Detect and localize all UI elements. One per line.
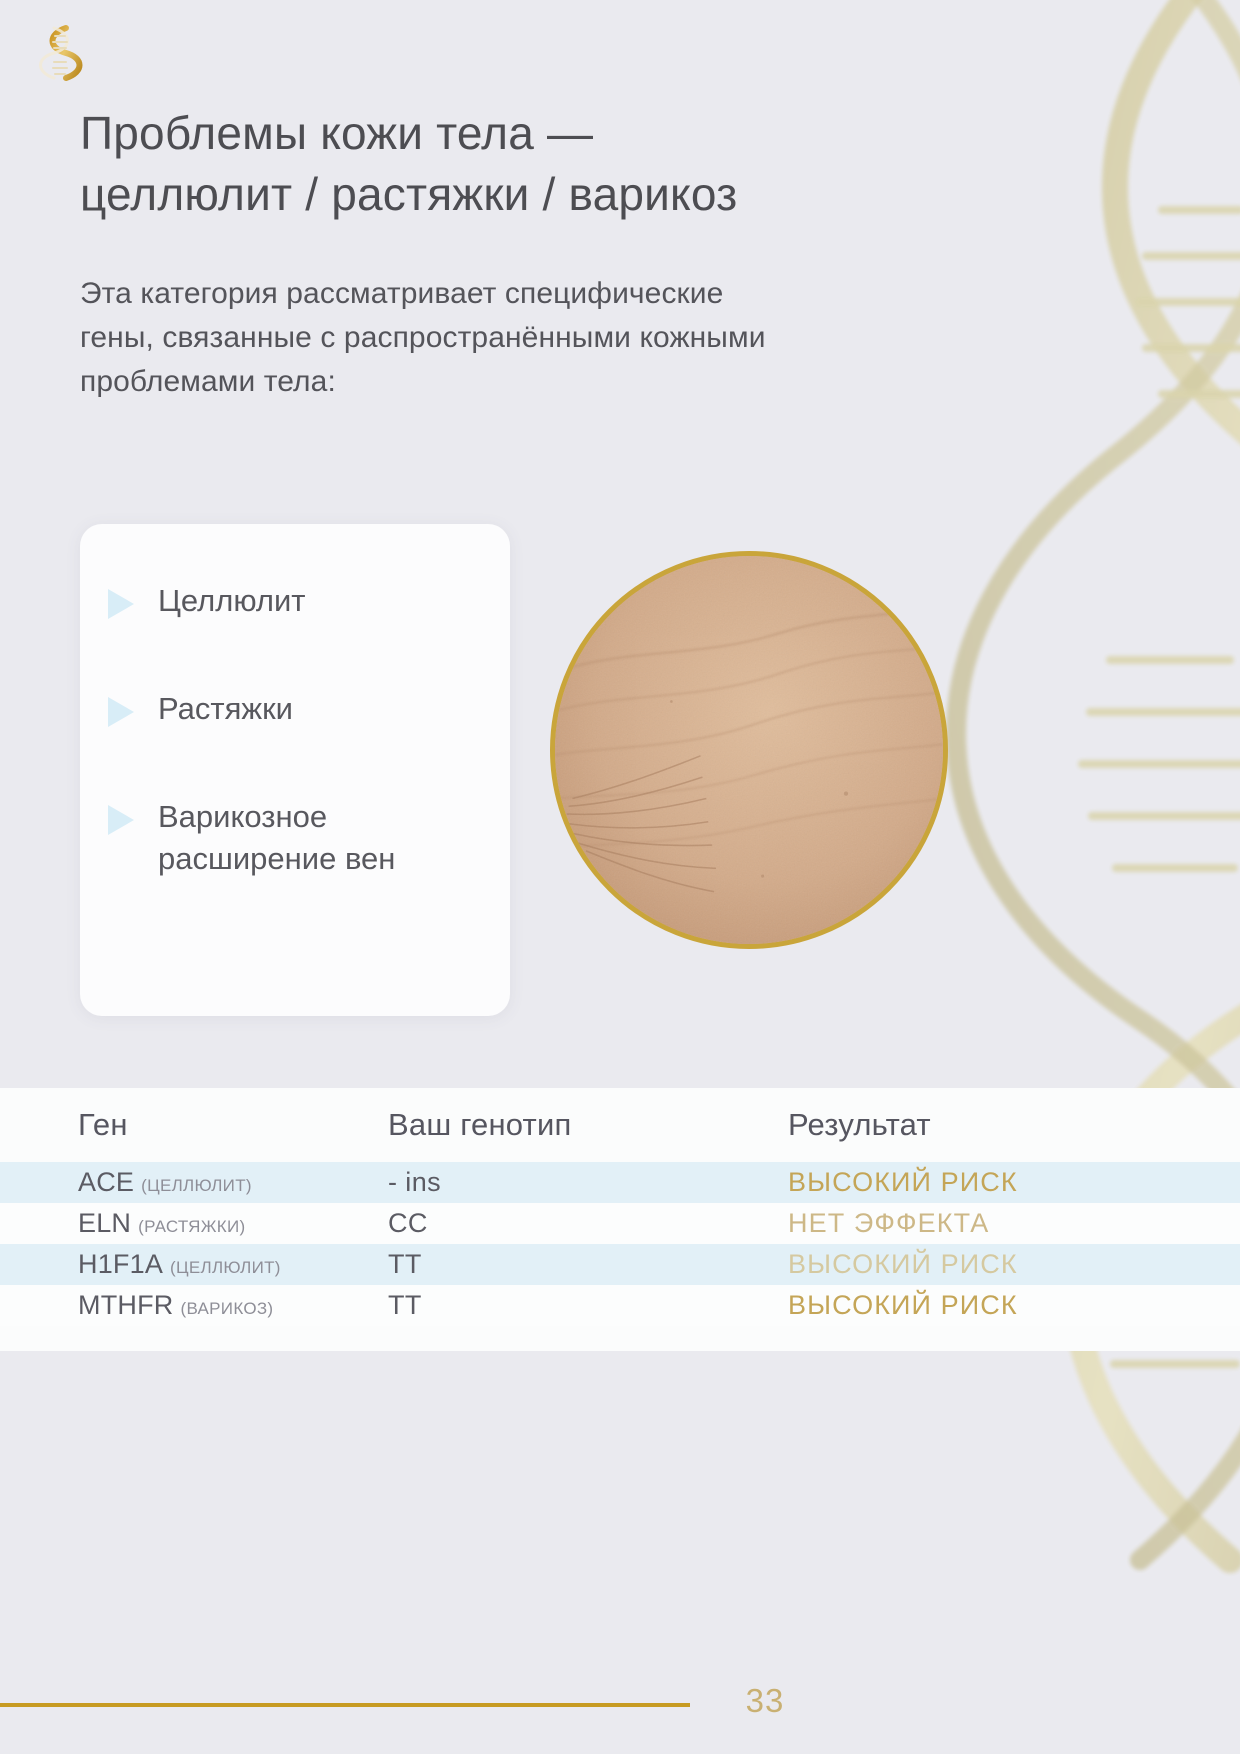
gene-note: (ЦЕЛЛЮЛИТ) <box>141 1176 252 1195</box>
table-header-row: Ген Ваш генотип Результат <box>0 1088 1240 1162</box>
page-title-line-1: Проблемы кожи тела — <box>80 107 593 159</box>
results-table-band: Ген Ваш генотип Результат ACE(ЦЕЛЛЮЛИТ) … <box>0 1088 1240 1351</box>
results-table: Ген Ваш генотип Результат ACE(ЦЕЛЛЮЛИТ) … <box>0 1088 1240 1326</box>
table-row: ACE(ЦЕЛЛЮЛИТ) - ins ВЫСОКИЙ РИСК <box>0 1162 1240 1203</box>
cell-gene: H1F1A(ЦЕЛЛЮЛИТ) <box>78 1249 388 1280</box>
cell-result: ВЫСОКИЙ РИСК <box>788 1167 1162 1198</box>
cell-result: ВЫСОКИЙ РИСК <box>788 1249 1162 1280</box>
page-number: 33 <box>735 1682 795 1720</box>
cell-genotype: - ins <box>388 1167 788 1198</box>
conditions-list: Целлюлит Растяжки Варикозное расширение … <box>108 580 488 881</box>
intro-paragraph: Эта категория рассматривает специфически… <box>80 272 800 404</box>
list-item-label: Варикозное расширение вен <box>158 796 488 880</box>
page-title-line-2: целлюлит / растяжки / варикоз <box>80 168 737 220</box>
list-item-label: Растяжки <box>158 688 293 730</box>
triangle-bullet-icon <box>108 697 134 727</box>
cell-result: НЕТ ЭФФЕКТА <box>788 1208 1162 1239</box>
gene-name: H1F1A <box>78 1249 163 1279</box>
gene-name: ELN <box>78 1208 131 1238</box>
gene-note: (ВАРИКОЗ) <box>180 1299 273 1318</box>
table-row: H1F1A(ЦЕЛЛЮЛИТ) TT ВЫСОКИЙ РИСК <box>0 1244 1240 1285</box>
list-item: Растяжки <box>108 688 488 730</box>
cell-genotype: TT <box>388 1290 788 1321</box>
footer-divider <box>0 1703 690 1707</box>
column-header-result: Результат <box>788 1107 1162 1143</box>
list-item: Целлюлит <box>108 580 488 622</box>
list-item-label: Целлюлит <box>158 580 306 622</box>
cell-gene: ELN(РАСТЯЖКИ) <box>78 1208 388 1239</box>
list-item: Варикозное расширение вен <box>108 796 488 880</box>
page-title: Проблемы кожи тела — целлюлит / растяжки… <box>80 103 940 224</box>
cell-gene: MTHFR(ВАРИКОЗ) <box>78 1290 388 1321</box>
conditions-card: Целлюлит Растяжки Варикозное расширение … <box>80 524 510 1016</box>
report-page: Проблемы кожи тела — целлюлит / растяжки… <box>0 0 1240 1754</box>
dna-helix-icon <box>34 22 86 84</box>
skin-photo <box>550 551 948 949</box>
gene-note: (РАСТЯЖКИ) <box>138 1217 245 1236</box>
gene-note: (ЦЕЛЛЮЛИТ) <box>170 1258 281 1277</box>
table-row: MTHFR(ВАРИКОЗ) TT ВЫСОКИЙ РИСК <box>0 1285 1240 1326</box>
gene-name: MTHFR <box>78 1290 173 1320</box>
cell-gene: ACE(ЦЕЛЛЮЛИТ) <box>78 1167 388 1198</box>
column-header-genotype: Ваш генотип <box>388 1107 788 1143</box>
triangle-bullet-icon <box>108 589 134 619</box>
cell-genotype: TT <box>388 1249 788 1280</box>
triangle-bullet-icon <box>108 805 134 835</box>
table-row: ELN(РАСТЯЖКИ) CC НЕТ ЭФФЕКТА <box>0 1203 1240 1244</box>
cell-genotype: CC <box>388 1208 788 1239</box>
skin-photo-image <box>555 556 943 944</box>
cell-result: ВЫСОКИЙ РИСК <box>788 1290 1162 1321</box>
column-header-gene: Ген <box>78 1107 388 1143</box>
gene-name: ACE <box>78 1167 134 1197</box>
